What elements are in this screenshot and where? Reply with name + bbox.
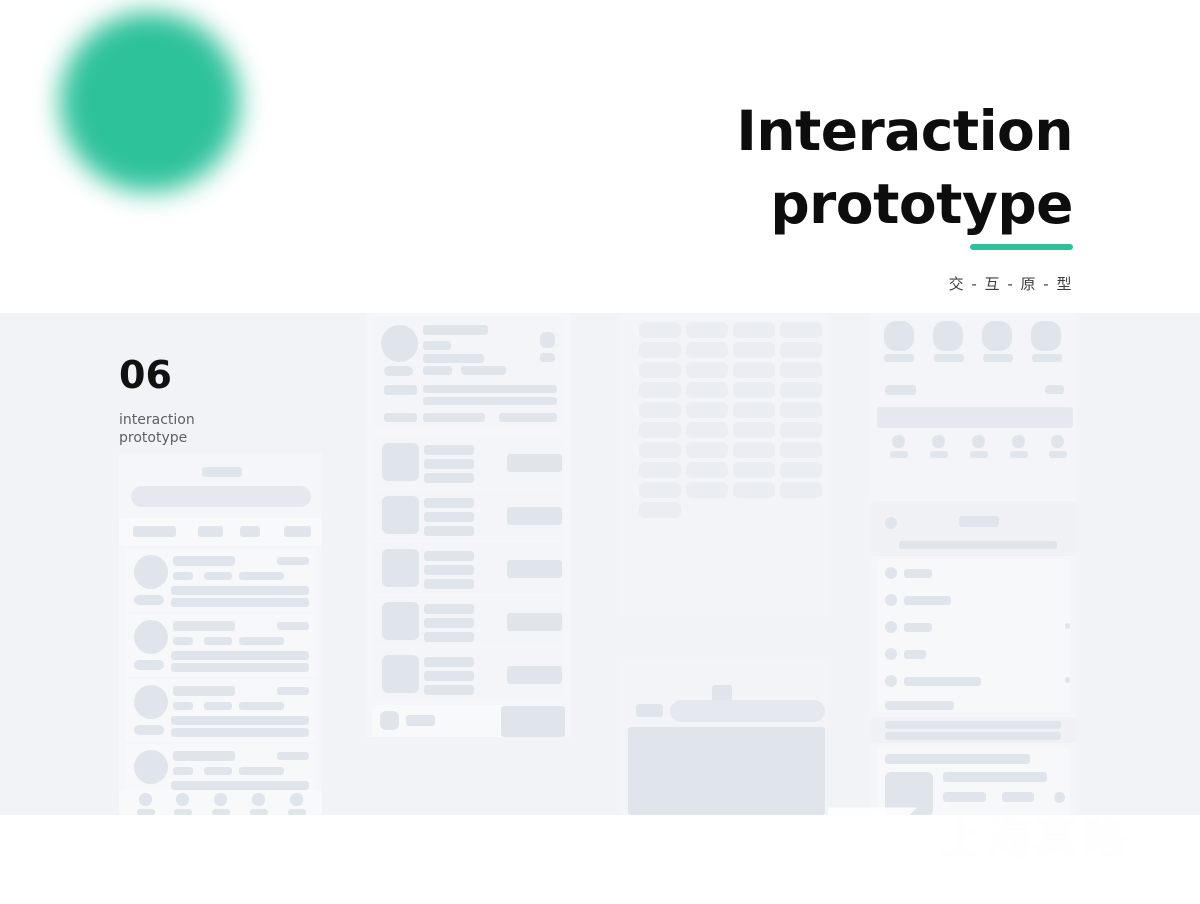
settings-row-icon <box>885 594 897 606</box>
mock1-row-tag <box>173 572 193 580</box>
mock1-row-tag <box>239 572 284 580</box>
mock1-filter-chip[interactable] <box>133 526 176 537</box>
mock2-row-button[interactable] <box>507 613 562 631</box>
mock2-row-thumb <box>382 496 419 534</box>
grid-pill[interactable] <box>686 342 728 358</box>
mock1-row-line <box>171 586 309 595</box>
settings-footnote <box>885 701 954 710</box>
watermark-logo-icon <box>822 806 930 884</box>
dash-icon-label <box>890 451 908 458</box>
mock2-field-line <box>423 397 557 405</box>
mock1-tab-icon[interactable] <box>290 793 303 806</box>
mock2-row-line <box>424 657 474 667</box>
dash-icon-shortcut[interactable] <box>892 435 905 448</box>
settings-row-label[interactable] <box>904 623 932 632</box>
mock2-field-line <box>423 385 557 393</box>
dash-shortcut-label <box>934 354 964 362</box>
mock1-filter-chip[interactable] <box>284 526 311 537</box>
dash-shortcut-icon[interactable] <box>1031 321 1061 351</box>
grid-pill[interactable] <box>733 382 775 398</box>
dash-shortcut-icon[interactable] <box>933 321 963 351</box>
mock1-row-line <box>171 651 309 660</box>
grid-pill[interactable] <box>639 482 681 498</box>
mock1-row-pill <box>134 725 164 735</box>
grid-pill[interactable] <box>686 462 728 478</box>
grid-pill[interactable] <box>780 402 822 418</box>
settings-row-label[interactable] <box>904 677 981 686</box>
mock1-row-badge <box>277 752 309 760</box>
settings-row-label[interactable] <box>904 650 926 659</box>
dash-section-more[interactable] <box>1045 385 1064 394</box>
settings-row-icon <box>885 675 897 687</box>
mock2-row-line <box>424 671 474 681</box>
page-title: Interaction prototype <box>453 95 1073 241</box>
dash-icon-shortcut[interactable] <box>1051 435 1064 448</box>
mock2-foot-chip <box>384 413 417 422</box>
mock2-row-line <box>424 445 474 455</box>
mock1-tab-label <box>288 809 306 815</box>
grid-pill[interactable] <box>639 422 681 438</box>
grid-pill[interactable] <box>733 322 775 338</box>
mock1-row-line <box>171 781 309 790</box>
title-line-2: prototype <box>453 168 1073 241</box>
grid-pill[interactable] <box>780 362 822 378</box>
mock2-row-line <box>424 498 474 508</box>
mock2-row-line <box>424 551 474 561</box>
mock2-row-line <box>424 579 474 589</box>
grid-pill[interactable] <box>639 502 681 518</box>
dash-icon-shortcut[interactable] <box>972 435 985 448</box>
content-card-tag <box>1002 792 1034 802</box>
grid-pill[interactable] <box>733 362 775 378</box>
dash-shortcut-icon[interactable] <box>884 321 914 351</box>
dashboard-wireframe <box>871 313 1076 501</box>
grid-pill[interactable] <box>780 482 822 498</box>
subtitle: 交 - 互 - 原 - 型 <box>949 273 1073 294</box>
caption-number: 06 <box>119 354 329 396</box>
settings-row-icon <box>885 648 897 660</box>
title-underline <box>970 244 1073 250</box>
settings-list-wireframe <box>871 501 1076 815</box>
settings-row-icon <box>885 621 897 633</box>
dash-section-title <box>885 385 916 395</box>
grid-pill[interactable] <box>733 462 775 478</box>
dash-shortcut-label <box>983 354 1013 362</box>
grid-pill[interactable] <box>780 422 822 438</box>
mock1-row-title <box>173 751 235 761</box>
grid-pill[interactable] <box>733 342 775 358</box>
dash-icon-label <box>1049 451 1067 458</box>
mock2-row-line <box>424 512 474 522</box>
settings-row-chevron-icon <box>1065 677 1070 683</box>
mock1-row-pill <box>134 660 164 670</box>
mock2-bottom-label <box>406 715 435 726</box>
mock1-row-tag <box>239 702 284 710</box>
settings-rows-card <box>877 559 1070 712</box>
composer-wireframe <box>622 661 827 815</box>
grid-pill[interactable] <box>733 442 775 458</box>
grid-pill[interactable] <box>639 442 681 458</box>
mock1-row-badge <box>277 557 309 565</box>
mock1-row-line <box>171 663 309 672</box>
grid-pill[interactable] <box>639 362 681 378</box>
settings-row-icon <box>885 567 897 579</box>
mock2-meta-line <box>423 354 484 363</box>
caption-label: interaction prototype <box>119 411 329 447</box>
grid-pill[interactable] <box>733 422 775 438</box>
content-card-tag <box>943 792 986 802</box>
mock1-row-badge <box>277 687 309 695</box>
grid-pill[interactable] <box>686 422 728 438</box>
dash-icon-label <box>1010 451 1028 458</box>
grid-pill[interactable] <box>780 342 822 358</box>
mock1-row-tag <box>239 767 284 775</box>
grid-pill[interactable] <box>686 482 728 498</box>
mock2-tag <box>461 366 506 375</box>
title-line-1: Interaction <box>453 95 1073 168</box>
mock2-row-thumb <box>382 602 419 640</box>
mock1-row-line <box>171 728 309 737</box>
mock2-row-button[interactable] <box>507 454 562 472</box>
mock1-tab-icon[interactable] <box>214 793 227 806</box>
grid-pill[interactable] <box>733 482 775 498</box>
slide-root: Interaction prototype 交 - 互 - 原 - 型 06 i… <box>0 0 1200 904</box>
grid-pill[interactable] <box>639 382 681 398</box>
mock1-tab-label <box>250 809 268 815</box>
mock1-row-tag <box>204 767 232 775</box>
mock2-row-button[interactable] <box>507 560 562 578</box>
dash-icon-label <box>970 451 988 458</box>
mock2-row-thumb <box>382 443 419 481</box>
settings-summary-icon <box>885 517 897 529</box>
mock1-row-tag <box>173 702 193 710</box>
dash-banner[interactable] <box>877 407 1073 428</box>
mock2-foot-chip <box>423 413 485 422</box>
grid-pill[interactable] <box>780 442 822 458</box>
mock1-row-pill <box>134 595 164 605</box>
mock1-row-title <box>173 686 235 696</box>
mock2-row-line <box>424 604 474 614</box>
dash-icon-label <box>930 451 948 458</box>
grid-pill[interactable] <box>639 402 681 418</box>
content-card-title <box>885 754 1030 764</box>
mock2-field-label <box>384 385 417 395</box>
grid-pill[interactable] <box>639 322 681 338</box>
mock2-sub <box>423 341 451 350</box>
settings-row-chevron-icon <box>1065 623 1070 629</box>
content-card-line <box>943 772 1047 782</box>
grid-pill[interactable] <box>780 462 822 478</box>
mock1-filter-chip[interactable] <box>240 526 260 537</box>
mock1-avatar <box>134 685 168 719</box>
mock1-search-input[interactable] <box>131 486 311 507</box>
mock2-row-line <box>424 526 474 536</box>
green-blurred-circle-icon <box>60 12 240 192</box>
mock1-row-title <box>173 621 235 631</box>
settings-row-label[interactable] <box>904 596 951 605</box>
composer-handle <box>712 685 732 701</box>
mock1-avatar <box>134 750 168 784</box>
dash-shortcut-label <box>884 354 914 362</box>
grid-pill[interactable] <box>780 382 822 398</box>
mock1-status-chip <box>202 467 242 477</box>
mock1-row-line <box>171 716 309 725</box>
mock2-row-line <box>424 632 474 642</box>
mock1-tab-icon[interactable] <box>176 793 189 806</box>
caption-block: 06 interaction prototype <box>119 354 329 447</box>
mock1-tab-icon[interactable] <box>252 793 265 806</box>
settings-row-label[interactable] <box>904 569 932 578</box>
settings-strip-line <box>885 721 1061 729</box>
grid-pill[interactable] <box>686 322 728 338</box>
mock2-row-thumb <box>382 655 419 693</box>
mock1-row-tag <box>173 767 193 775</box>
mock2-name <box>423 325 488 335</box>
settings-summary-bar <box>899 541 1057 549</box>
mock1-row-tag <box>204 637 232 645</box>
mock2-foot-chip <box>499 413 557 422</box>
mock1-row-badge <box>277 622 309 630</box>
mock1-row-line <box>171 598 309 607</box>
mockup-panel: 06 interaction prototype <box>0 313 1200 815</box>
mock1-tab-icon[interactable] <box>139 793 152 806</box>
mock2-action-label <box>540 353 555 362</box>
mock2-row-button[interactable] <box>507 666 562 684</box>
mock2-row-button[interactable] <box>507 507 562 525</box>
mock2-row-line <box>424 565 474 575</box>
feed-list-wireframe <box>119 453 322 815</box>
mock1-row-tag <box>239 637 284 645</box>
mock2-row-line <box>424 685 474 695</box>
settings-summary-value <box>959 516 999 527</box>
mock2-bottom-cta[interactable] <box>501 706 565 737</box>
grid-pill[interactable] <box>639 462 681 478</box>
mock2-tag <box>423 366 452 375</box>
content-card-thumb <box>885 772 933 815</box>
dash-shortcut-icon[interactable] <box>982 321 1012 351</box>
mock1-row-title <box>173 556 235 566</box>
grid-picker-wireframe <box>622 313 827 616</box>
mock2-row-line <box>424 618 474 628</box>
mock2-row-thumb <box>382 549 419 587</box>
composer-body[interactable] <box>628 727 825 815</box>
grid-pill[interactable] <box>686 362 728 378</box>
detail-list-wireframe <box>366 313 571 737</box>
grid-pill[interactable] <box>686 382 728 398</box>
mock1-avatar <box>134 555 168 589</box>
grid-pill[interactable] <box>639 342 681 358</box>
mock1-row-tag <box>204 702 232 710</box>
mock2-status-pill <box>384 366 413 376</box>
mock1-filter-chip[interactable] <box>198 526 223 537</box>
dash-icon-shortcut[interactable] <box>932 435 945 448</box>
mock1-avatar <box>134 620 168 654</box>
watermark-url: www.cnzlapp.com <box>942 852 1200 886</box>
mock1-tab-label <box>212 809 230 815</box>
mock2-row-line <box>424 473 474 483</box>
content-card-avatar <box>1054 792 1065 803</box>
settings-strip-line <box>885 732 1061 740</box>
grid-pill[interactable] <box>733 402 775 418</box>
mock1-tab-label <box>174 809 192 815</box>
composer-avatar <box>636 704 663 717</box>
dash-shortcut-label <box>1032 354 1062 362</box>
dash-icon-shortcut[interactable] <box>1012 435 1025 448</box>
grid-pill[interactable] <box>686 442 728 458</box>
composer-input[interactable] <box>670 700 825 722</box>
hero-section: Interaction prototype 交 - 互 - 原 - 型 <box>0 0 1200 313</box>
grid-pill[interactable] <box>780 322 822 338</box>
mock2-bottom-icon[interactable] <box>380 711 399 730</box>
mock1-tab-label <box>137 809 155 815</box>
grid-pill[interactable] <box>686 402 728 418</box>
mock2-action-icon[interactable] <box>540 332 555 348</box>
mock1-row-tag <box>173 637 193 645</box>
mock1-row-tag <box>204 572 232 580</box>
mock2-avatar <box>381 325 418 362</box>
mock2-row-line <box>424 459 474 469</box>
